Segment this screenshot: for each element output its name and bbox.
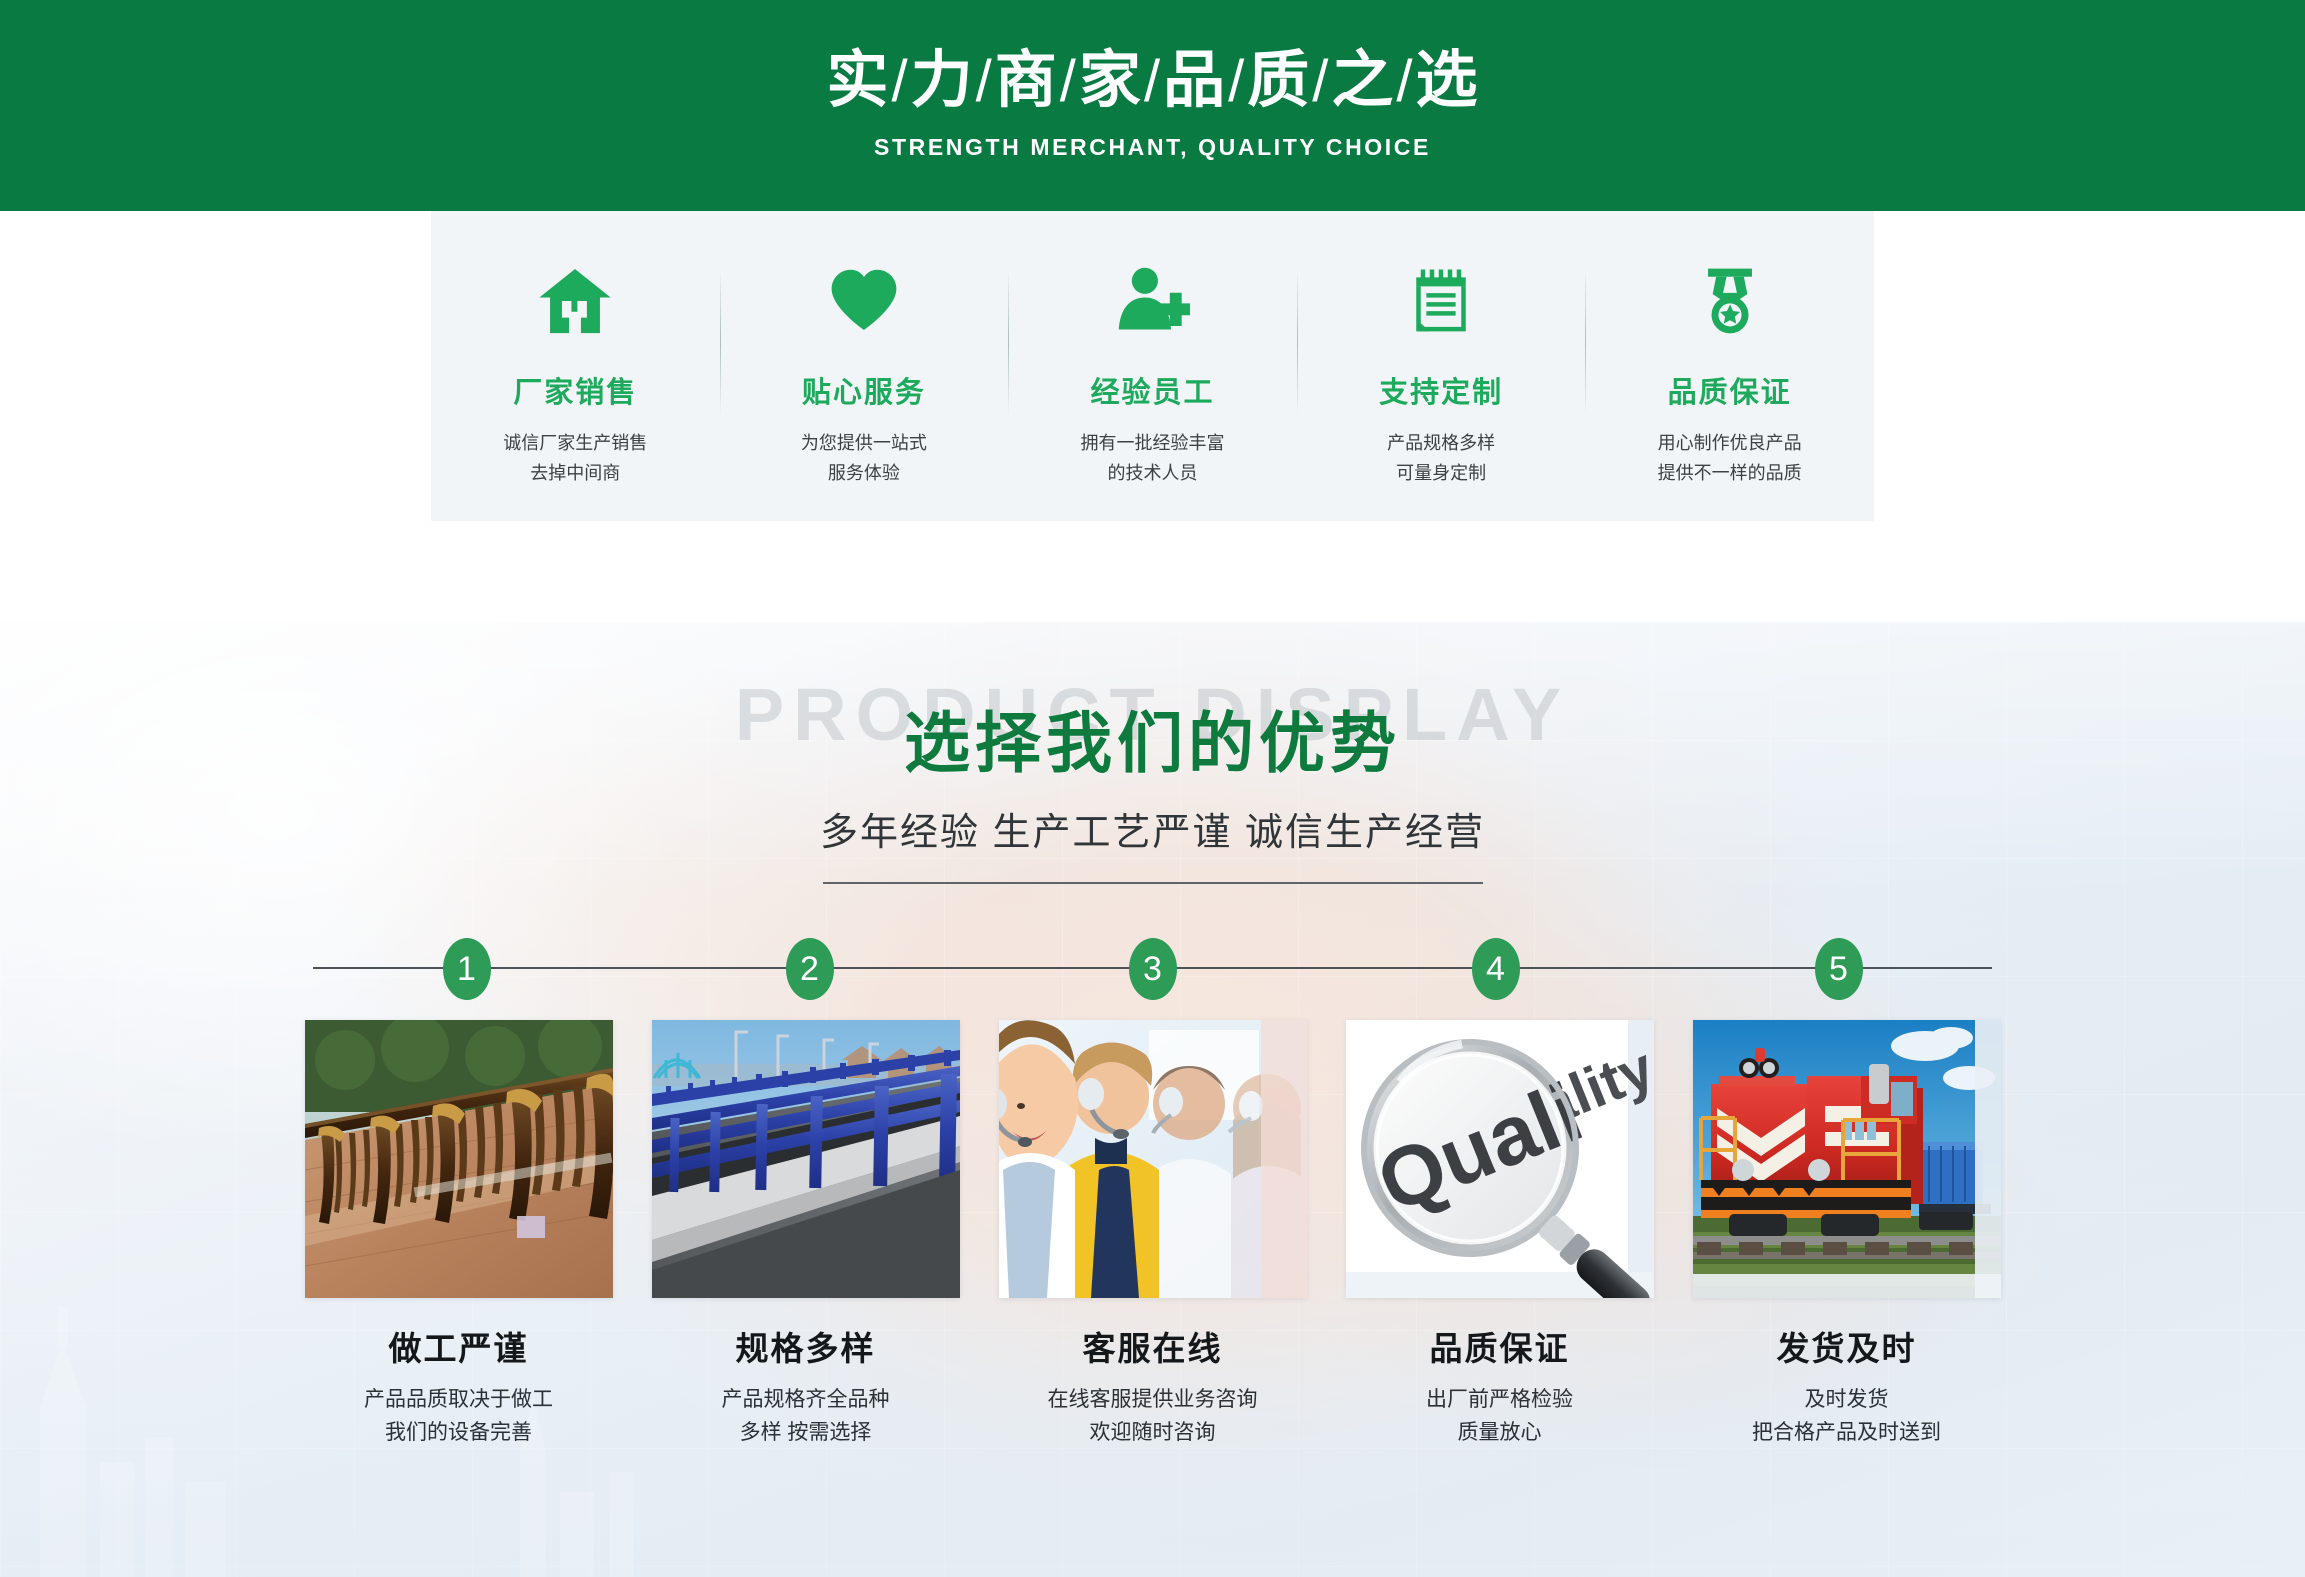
top-banner: 实/力/商/家/品/质/之/选 STRENGTH MERCHANT, QUALI… (0, 0, 2305, 211)
banner-title-sep-1: / (974, 49, 995, 114)
notepad-icon (1399, 259, 1483, 343)
feature-title: 贴心服务 (802, 369, 926, 411)
blue-bridge-guardrail-photo[interactable] (652, 1020, 960, 1298)
card-desc-line2: 把合格产品及时送到 (1752, 1421, 1941, 1444)
step-marker-2: 2 (786, 938, 834, 1000)
card-title: 品质保证 (1430, 1322, 1570, 1370)
marker-cell: 2 (638, 938, 981, 1000)
feature-desc-line1: 拥有一批经验丰富 (1080, 433, 1224, 453)
house-icon (533, 259, 617, 343)
banner-title-sep-6: / (1394, 49, 1415, 114)
card-desc-line1: 出厂前严格检验 (1426, 1388, 1573, 1411)
card-desc-line2: 质量放心 (1458, 1421, 1542, 1444)
banner-subtitle: STRENGTH MERCHANT, QUALITY CHOICE (874, 134, 1431, 161)
card-desc-line1: 产品规格齐全品种 (722, 1388, 890, 1411)
feature-desc-line1: 诚信厂家生产销售 (503, 433, 647, 453)
card-desc: 在线客服提供业务咨询 欢迎随时咨询 (1048, 1384, 1258, 1449)
card-desc: 产品品质取决于做工 我们的设备完善 (364, 1384, 553, 1449)
advantage-card-3[interactable]: 客服在线 在线客服提供业务咨询 欢迎随时咨询 (979, 1020, 1326, 1449)
card-title: 做工严谨 (389, 1322, 529, 1370)
step-marker-5: 5 (1815, 938, 1863, 1000)
features-section: 厂家销售 诚信厂家生产销售 去掉中间商 贴心服务 为您提供一站式 服务体验 (0, 211, 2305, 622)
banner-title-sep-5: / (1310, 49, 1331, 114)
feature-desc-line2: 服务体验 (828, 463, 900, 483)
banner-title-char-1: 力 (911, 46, 974, 115)
feature-desc: 产品规格多样 可量身定制 (1387, 429, 1495, 488)
feature-desc-line2: 的技术人员 (1107, 463, 1197, 483)
banner-title-char-0: 实 (827, 46, 890, 115)
advantage-card-4[interactable]: Quality Quali (1326, 1020, 1673, 1449)
card-desc-line1: 及时发货 (1805, 1388, 1889, 1411)
banner-title-sep-0: / (890, 49, 911, 114)
feature-desc-line1: 为您提供一站式 (801, 433, 927, 453)
marker-cell: 1 (295, 938, 638, 1000)
call-center-agents-photo[interactable] (999, 1020, 1307, 1298)
banner-title-char-7: 选 (1415, 46, 1478, 115)
feature-title: 经验员工 (1090, 369, 1214, 411)
feature-desc: 拥有一批经验丰富 的技术人员 (1080, 429, 1224, 488)
bronze-guardrail-photo[interactable] (305, 1020, 613, 1298)
card-desc-line2: 多样 按需选择 (740, 1421, 872, 1444)
feature-item-factory-sales: 厂家销售 诚信厂家生产销售 去掉中间商 (431, 211, 720, 521)
feature-desc-line2: 提供不一样的品质 (1658, 463, 1802, 483)
timeline-markers: 1 2 3 4 5 (0, 938, 2305, 1000)
feature-desc-line1: 用心制作优良产品 (1658, 433, 1802, 453)
advantage-header: PRODUCT DISPLAY 选择我们的优势 多年经验 生产工艺严谨 诚信生产… (0, 622, 2305, 884)
feature-item-experienced-staff: 经验员工 拥有一批经验丰富 的技术人员 (1008, 211, 1297, 521)
advantage-card-2[interactable]: 规格多样 产品规格齐全品种 多样 按需选择 (632, 1020, 979, 1449)
advantage-subtitle: 多年经验 生产工艺严谨 诚信生产经营 (0, 801, 2305, 856)
feature-item-custom-support: 支持定制 产品规格多样 可量身定制 (1297, 211, 1586, 521)
step-timeline: 1 2 3 4 5 (0, 938, 2305, 998)
feature-desc: 诚信厂家生产销售 去掉中间商 (503, 429, 647, 488)
marker-cell: 3 (981, 938, 1324, 1000)
step-marker-3: 3 (1129, 938, 1177, 1000)
features-panel: 厂家销售 诚信厂家生产销售 去掉中间商 贴心服务 为您提供一站式 服务体验 (431, 211, 1874, 521)
step-marker-4: 4 (1472, 938, 1520, 1000)
card-desc-line1: 产品品质取决于做工 (364, 1388, 553, 1411)
medal-icon (1688, 259, 1772, 343)
card-desc: 产品规格齐全品种 多样 按需选择 (722, 1384, 890, 1449)
feature-desc-line2: 去掉中间商 (530, 463, 620, 483)
card-desc: 出厂前严格检验 质量放心 (1426, 1384, 1573, 1449)
card-desc-line1: 在线客服提供业务咨询 (1048, 1388, 1258, 1411)
banner-title-char-5: 质 (1247, 46, 1310, 115)
quality-magnifier-photo[interactable]: Quality Quali (1346, 1020, 1654, 1298)
marker-cell: 5 (1667, 938, 2010, 1000)
feature-desc: 用心制作优良产品 提供不一样的品质 (1658, 429, 1802, 488)
banner-title-sep-4: / (1226, 49, 1247, 114)
heart-icon (822, 259, 906, 343)
advantage-card-5[interactable]: 发货及时 及时发货 把合格产品及时送到 (1673, 1020, 2020, 1449)
card-title: 发货及时 (1777, 1322, 1917, 1370)
advantage-cards: 做工严谨 产品品质取决于做工 我们的设备完善 (0, 1020, 2305, 1449)
step-marker-1: 1 (443, 938, 491, 1000)
feature-title: 厂家销售 (513, 369, 637, 411)
title-divider (823, 882, 1483, 884)
feature-desc-line2: 可量身定制 (1396, 463, 1486, 483)
banner-title-char-2: 商 (995, 46, 1058, 115)
banner-title-sep-3: / (1142, 49, 1163, 114)
banner-title-sep-2: / (1058, 49, 1079, 114)
card-desc-line2: 欢迎随时咨询 (1090, 1421, 1216, 1444)
card-desc-line2: 我们的设备完善 (385, 1421, 532, 1444)
card-title: 规格多样 (736, 1322, 876, 1370)
red-locomotive-photo[interactable] (1693, 1020, 2001, 1298)
feature-item-caring-service: 贴心服务 为您提供一站式 服务体验 (720, 211, 1009, 521)
feature-item-quality-guarantee: 品质保证 用心制作优良产品 提供不一样的品质 (1585, 211, 1874, 521)
marker-cell: 4 (1324, 938, 1667, 1000)
feature-desc-line1: 产品规格多样 (1387, 433, 1495, 453)
banner-title: 实/力/商/家/品/质/之/选 (827, 50, 1479, 112)
feature-title: 品质保证 (1668, 369, 1792, 411)
user-plus-icon (1110, 259, 1194, 343)
feature-desc: 为您提供一站式 服务体验 (801, 429, 927, 488)
advantage-title: 选择我们的优势 (0, 662, 2305, 779)
banner-title-char-3: 家 (1079, 46, 1142, 115)
advantage-card-1[interactable]: 做工严谨 产品品质取决于做工 我们的设备完善 (285, 1020, 632, 1449)
banner-title-char-6: 之 (1331, 46, 1394, 115)
card-desc: 及时发货 把合格产品及时送到 (1752, 1384, 1941, 1449)
feature-title: 支持定制 (1379, 369, 1503, 411)
card-title: 客服在线 (1083, 1322, 1223, 1370)
advantage-section: PRODUCT DISPLAY 选择我们的优势 多年经验 生产工艺严谨 诚信生产… (0, 622, 2305, 1577)
banner-title-char-4: 品 (1163, 46, 1226, 115)
